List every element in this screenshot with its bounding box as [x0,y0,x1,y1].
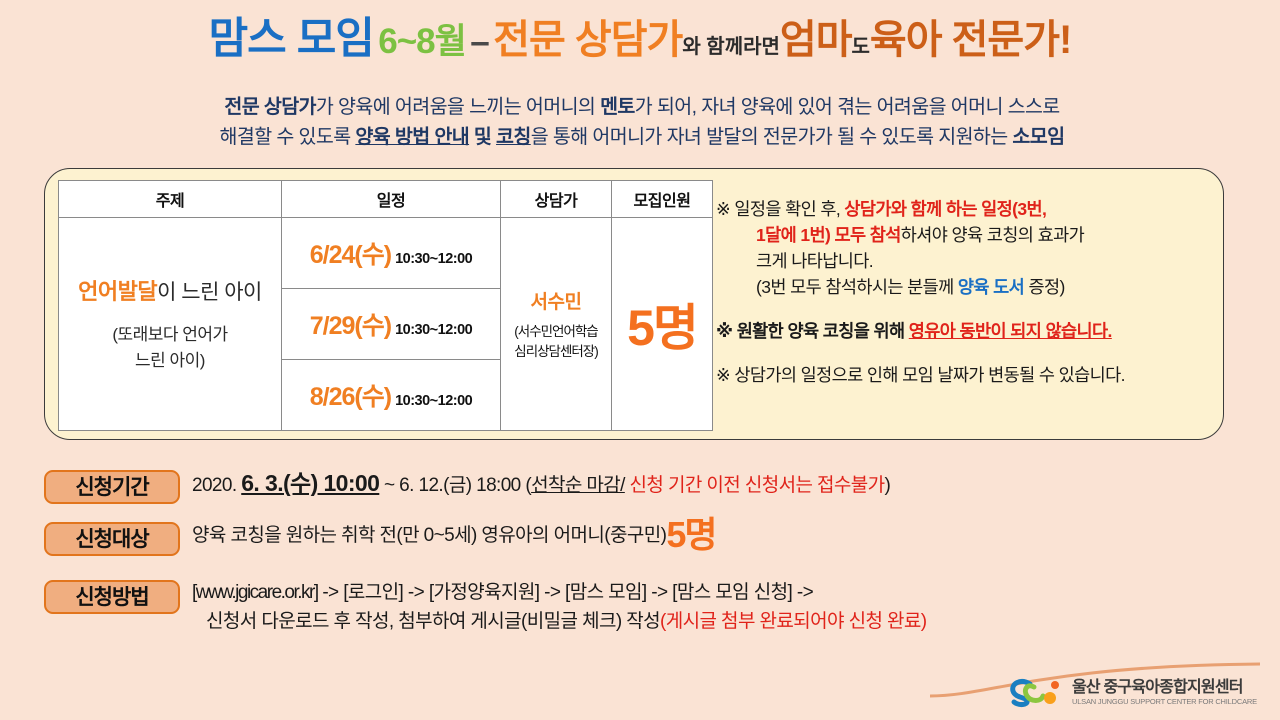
period-red-warning: 신청 기간 이전 신청서는 접수불가 [625,475,885,496]
footer-center-name-en: ULSAN JUNGGU SUPPORT CENTER FOR CHILDCAR… [1072,696,1257,707]
period-text-1: 2020. [192,475,241,496]
desc-text-4: 및 [469,126,496,148]
target-count-value: 5명 [666,514,715,555]
title-part-mom: 엄마 [780,18,852,62]
column-header-capacity: 모집인원 [612,181,713,218]
cell-schedule-3: 8/26(수)10:30~12:00 [282,360,501,431]
note1-text-5: 증정) [1024,277,1065,297]
period-text-2: ~ 6. 12.(금) 18:00 ( [379,475,531,496]
poster-title: 맘스 모임 6~8월 – 전문 상담가와 함께라면엄마도육아 전문가! [0,18,1280,61]
note3-text-1: 상담가의 일정으로 인해 모임 날짜가 변동될 수 있습니다. [734,365,1125,385]
desc-bold-group: 소모임 [1012,126,1064,148]
note1-mark: ※ [716,199,734,219]
desc-text-5: 을 통해 어머니가 자녀 발달의 전문가가 될 수 있도록 지원하는 [531,126,1013,148]
info-row-target: 신청대상 양육 코칭을 원하는 취학 전(만 0~5세) 영유아의 어머니(중구… [44,522,1244,556]
counselor-org-line-2: 심리상담센터장) [501,342,611,362]
schedule-table-body: 언어발달이 느린 아이 (또래보다 언어가 느린 아이) 6/24(수)10:3… [59,218,713,431]
logo-svg [1010,678,1064,708]
schedule-time-1: 10:30~12:00 [395,251,472,267]
cell-schedule-2: 7/29(수)10:30~12:00 [282,289,501,360]
cell-capacity: 5명 [612,218,713,431]
method-line2-red: (게시글 첨부 완료되어야 신청 완료) [660,611,927,632]
schedule-date-1: 6/24(수) [310,241,391,269]
title-part-counselor: 전문 상담가 [493,18,682,62]
footer-center-name-kr: 울산 중구육아종합지원센터 [1072,679,1257,696]
schedule-date-2: 7/29(수) [310,312,391,340]
note1-red-2: 1달에 1번) 모두 참석 [756,225,901,245]
note1-text-3: 크게 나타납니다. [756,251,873,271]
application-method-text: [www.jgicare.or.kr] -> [로그인] -> [가정양육지원]… [192,580,1244,635]
note1-text-2: 하셔야 양육 코칭의 효과가 [901,225,1084,245]
note-attendance: ※ 일정을 확인 후, 상담가와 함께 하는 일정(3번, 1달에 1번) 모두… [716,196,1228,300]
capacity-value: 5명 [627,300,697,356]
target-text-1: 양육 코칭을 원하는 취학 전(만 0~5세) 영유아의 어머니(중구민) [192,525,666,546]
cell-counselor: 서수민 (서수민언어학습 심리상담센터장) [501,218,612,431]
description-line-1: 전문 상담가가 양육에 어려움을 느끼는 어머니의 멘토가 되어, 자녀 양육에… [62,92,1222,122]
title-dash: – [470,22,488,61]
method-line1-rest: -> [로그인] -> [가정양육지원] -> [맘스 모임] -> [맘스 모… [318,582,813,603]
schedule-table: 주제 일정 상담가 모집인원 언어발달이 느린 아이 (또래보다 언어가 느린 … [58,180,713,431]
period-underline-firstcome: 선착순 마감/ [531,475,625,496]
column-header-schedule: 일정 [282,181,501,218]
badge-application-period: 신청기간 [44,470,180,504]
period-text-3: ) [885,475,891,496]
schedule-table-head: 주제 일정 상담가 모집인원 [59,181,713,218]
title-part-months: 6~8월 [378,22,466,61]
counselor-org: (서수민언어학습 심리상담센터장) [501,322,611,362]
topic-sub-text: (또래보다 언어가 느린 아이) [59,322,281,374]
schedule-date-3: 8/26(수) [310,383,391,411]
title-part-expert: 육아 전문가! [870,18,1071,62]
column-header-topic: 주제 [59,181,282,218]
info-row-period: 신청기간 2020. 6. 3.(수) 10:00 ~ 6. 12.(금) 18… [44,470,1244,504]
period-start-datetime: 6. 3.(수) 10:00 [241,470,379,496]
title-part-program: 맘스 모임 [209,15,374,63]
schedule-time-3: 10:30~12:00 [395,393,472,409]
note1-text-4: (3번 모두 참석하시는 분들께 [756,277,958,297]
note-no-infants: ※ 원활한 양육 코칭을 위해 영유아 동반이 되지 않습니다. [716,318,1228,344]
application-target-text: 양육 코칭을 원하는 취학 전(만 0~5세) 영유아의 어머니(중구민)5명 [192,522,1244,549]
footer-logo: 울산 중구육아종합지원센터 ULSAN JUNGGU SUPPORT CENTE… [1010,678,1257,708]
cell-schedule-1: 6/24(수)10:30~12:00 [282,218,501,289]
method-line2-text: 신청서 다운로드 후 작성, 첨부하여 게시글(비밀글 체크) 작성 [206,611,660,632]
schedule-time-2: 10:30~12:00 [395,322,472,338]
desc-underline-guidance: 양육 방법 안내 [355,126,469,148]
method-website-url[interactable]: [www.jgicare.or.kr] [192,582,318,603]
method-line2: 신청서 다운로드 후 작성, 첨부하여 게시글(비밀글 체크) 작성(게시글 첨… [192,609,1244,635]
desc-underline-coaching: 코칭 [496,126,531,148]
notes-section: ※ 일정을 확인 후, 상담가와 함께 하는 일정(3번, 1달에 1번) 모두… [716,196,1228,401]
cell-topic: 언어발달이 느린 아이 (또래보다 언어가 느린 아이) [59,218,282,431]
note3-mark: ※ [716,365,734,385]
desc-text-3: 해결할 수 있도록 [220,126,356,148]
note1-red-1: 상담가와 함께 하는 일정(3번, [844,199,1046,219]
poster-root: 맘스 모임 6~8월 – 전문 상담가와 함께라면엄마도육아 전문가! 전문 상… [0,0,1280,720]
topic-main-text: 언어발달이 느린 아이 [59,274,281,306]
counselor-org-line-1: (서수민언어학습 [501,322,611,342]
note2-text-1: 원활한 양육 코칭을 위해 [737,321,909,341]
topic-rest: 이 느린 아이 [157,281,262,304]
topic-highlight: 언어발달 [78,279,157,304]
table-row: 언어발달이 느린 아이 (또래보다 언어가 느린 아이) 6/24(수)10:3… [59,218,713,289]
desc-text-2: 가 되어, 자녀 양육에 있어 겪는 어려움을 어머니 스스로 [635,96,1060,118]
note2-mark: ※ [716,321,737,341]
center-logo-icon [1010,678,1064,708]
description-line-2: 해결할 수 있도록 양육 방법 안내 및 코칭을 통해 어머니가 자녀 발달의 … [62,122,1222,152]
badge-application-target: 신청대상 [44,522,180,556]
desc-bold-mentor: 멘토 [600,96,635,118]
note1-blue-gift: 양육 도서 [958,277,1024,297]
topic-sub-line-1: (또래보다 언어가 [59,322,281,348]
footer-logo-text: 울산 중구육아종합지원센터 ULSAN JUNGGU SUPPORT CENTE… [1072,679,1257,707]
application-period-text: 2020. 6. 3.(수) 10:00 ~ 6. 12.(금) 18:00 (… [192,470,1244,499]
desc-text-1: 가 양육에 어려움을 느끼는 어머니의 [316,96,600,118]
note-date-change: ※ 상담가의 일정으로 인해 모임 날짜가 변동될 수 있습니다. [716,362,1228,388]
column-header-counselor: 상담가 [501,181,612,218]
program-description: 전문 상담가가 양육에 어려움을 느끼는 어머니의 멘토가 되어, 자녀 양육에… [62,92,1222,152]
topic-sub-line-2: 느린 아이) [59,348,281,374]
note1-text-1: 일정을 확인 후, [734,199,844,219]
title-part-also: 도 [852,36,870,58]
badge-application-method: 신청방법 [44,580,180,614]
desc-bold-counselor: 전문 상담가 [224,96,316,118]
info-row-method: 신청방법 [www.jgicare.or.kr] -> [로그인] -> [가정… [44,580,1244,635]
table-header-row: 주제 일정 상담가 모집인원 [59,181,713,218]
counselor-name: 서수민 [501,287,611,314]
note2-red-1: 영유아 동반이 되지 않습니다. [909,321,1112,341]
title-part-with: 와 함께라면 [682,36,780,58]
